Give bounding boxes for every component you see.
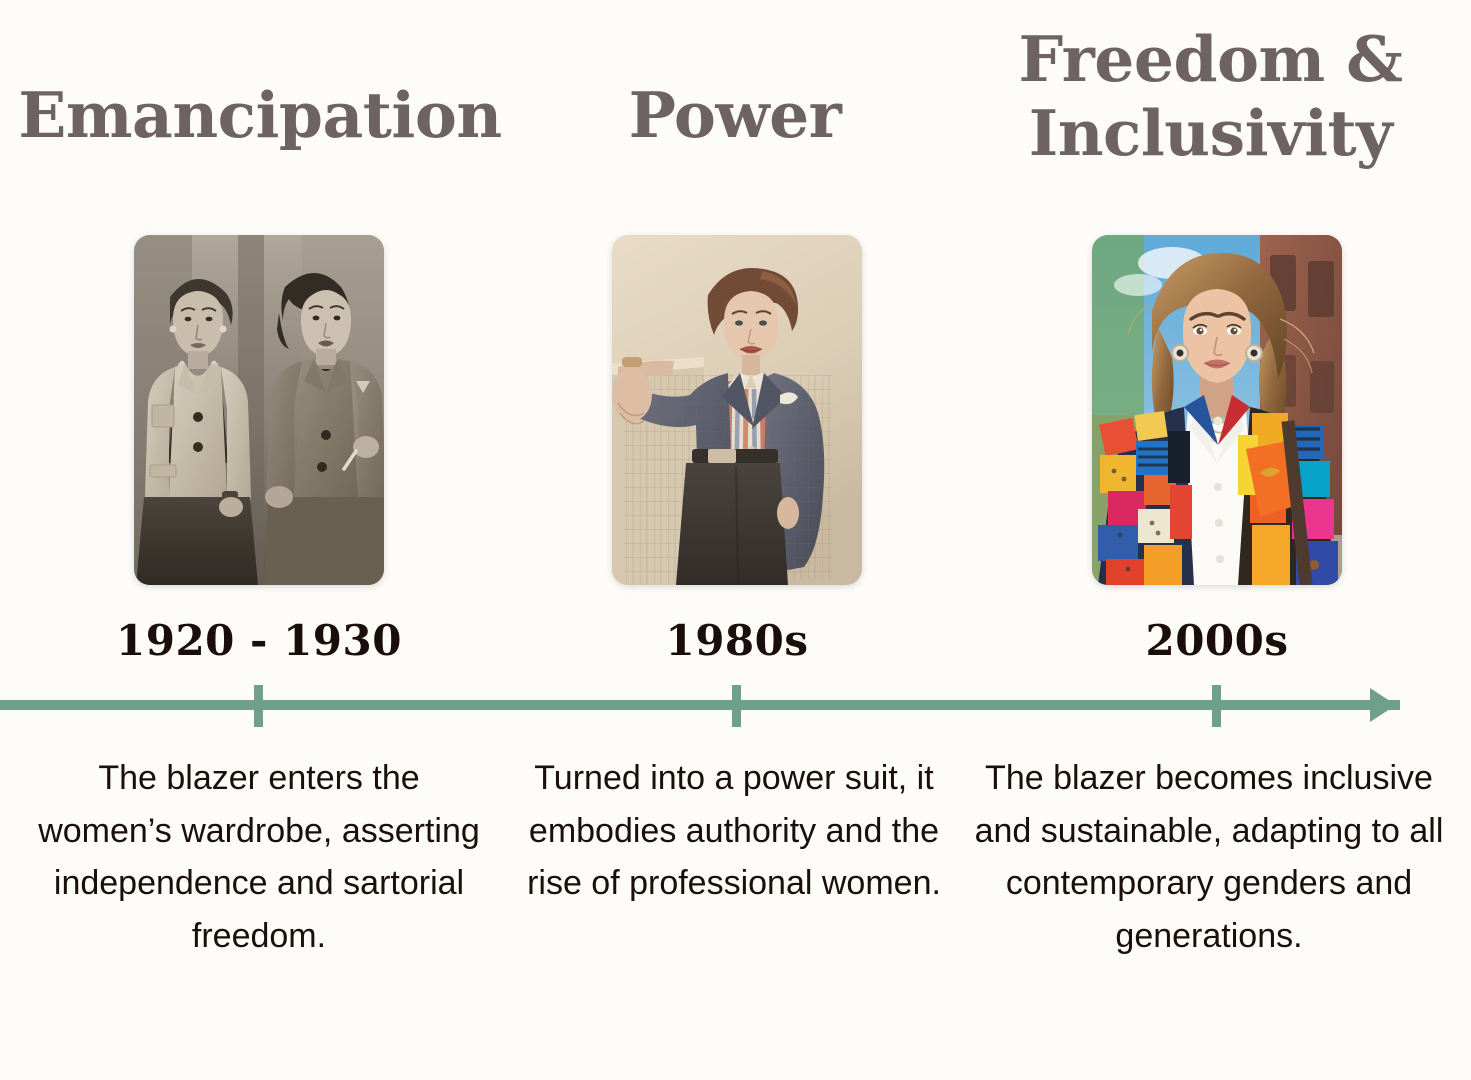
timeline-tick-2000s [1212, 685, 1221, 727]
illustration-woman-1980s-power-blazer [612, 235, 862, 585]
era-label-1980s: 1980s [547, 616, 927, 665]
timeline-infographic: Emancipation Power Freedom & Inclusivity [0, 0, 1471, 1080]
timeline-tick-1920-1930 [254, 685, 263, 727]
timeline-arrow-icon [1370, 688, 1396, 722]
timeline-axis-line [0, 700, 1400, 710]
illustration-two-women-1920s [134, 235, 384, 585]
description-1980s: Turned into a power suit, it embodies au… [514, 752, 954, 910]
description-1920-1930: The blazer enters the women’s wardrobe, … [34, 752, 484, 963]
era-label-1920-1930: 1920 - 1930 [69, 616, 449, 665]
era-image-1980s [612, 235, 862, 585]
photo-woman-patchwork-blazer [1092, 235, 1342, 585]
era-image-1920-1930 [134, 235, 384, 585]
description-2000s: The blazer becomes inclusive and sustain… [954, 752, 1464, 963]
era-image-2000s [1092, 235, 1342, 585]
era-label-2000s: 2000s [1027, 616, 1407, 665]
column-heading-power: Power [520, 78, 950, 152]
timeline-tick-1980s [732, 685, 741, 727]
column-heading-freedom-inclusivity: Freedom & Inclusivity [950, 22, 1471, 171]
column-heading-emancipation: Emancipation [0, 78, 520, 152]
